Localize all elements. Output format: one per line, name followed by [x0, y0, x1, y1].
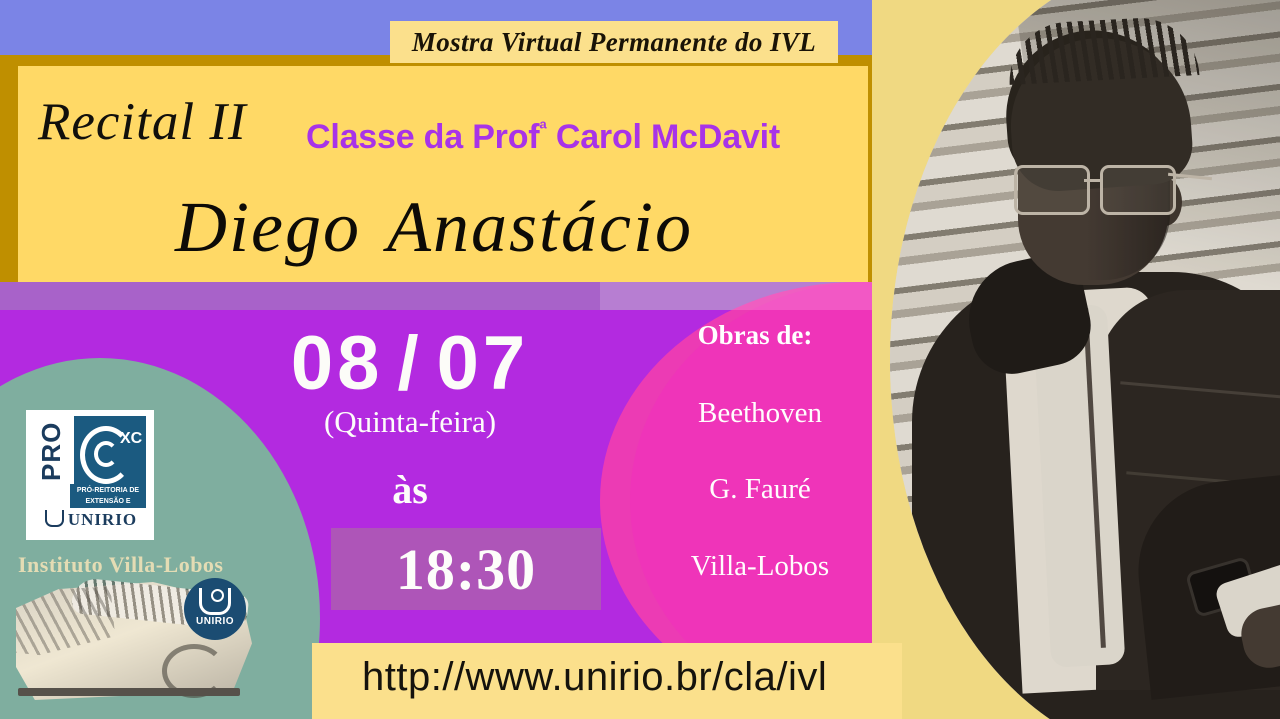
composer-item: G. Fauré: [635, 473, 885, 506]
composer-item: Villa-Lobos: [635, 550, 885, 583]
proexc-logo: PRO XC PRÓ-REITORIA DE EXTENSÃO E CULTUR…: [26, 410, 154, 540]
proexc-subtitle: PRÓ-REITORIA DE EXTENSÃO E CULTURA: [70, 484, 146, 508]
proexc-spiral-box: XC: [74, 416, 146, 486]
exhibition-banner-text: Mostra Virtual Permanente do IVL: [412, 27, 816, 58]
proexc-logo-mark: PRO XC: [30, 414, 150, 488]
class-line-suffix: Carol McDavit: [547, 118, 780, 156]
composer-item: Beethoven: [635, 397, 885, 430]
ivl-sculpture-base: [18, 688, 240, 696]
ivl-title: Instituto Villa-Lobos: [18, 552, 278, 578]
event-poster: Mostra Virtual Permanente do IVL Recital…: [0, 0, 1280, 719]
event-time-badge: 18:30: [331, 528, 601, 610]
website-url[interactable]: http://www.unirio.br/cla/ivl: [362, 655, 827, 700]
proexc-subtitle-line1: PRÓ-REITORIA DE: [70, 485, 146, 496]
proexc-institution-text: UNIRIO: [68, 510, 137, 529]
class-line-prefix: Classe da Prof: [306, 118, 539, 156]
event-date: 08/07: [225, 320, 595, 407]
performer-last-name: Anastácio: [387, 187, 693, 267]
date-separator: /: [383, 321, 436, 406]
program-heading: Obras de:: [630, 320, 880, 351]
unirio-symbol-dot: [211, 589, 224, 602]
website-panel[interactable]: http://www.unirio.br/cla/ivl: [312, 643, 902, 719]
event-day: 08: [291, 321, 384, 406]
unirio-badge: UNIRIO: [184, 578, 246, 640]
background-magenta-veil: [600, 282, 910, 310]
unirio-mark-icon: [45, 510, 64, 527]
exhibition-banner: Mostra Virtual Permanente do IVL: [390, 21, 838, 63]
ivl-logo: Instituto Villa-Lobos UNIRIO: [12, 552, 282, 702]
proexc-pro-text: PRO: [36, 416, 70, 486]
event-time-preposition: às: [225, 466, 595, 513]
recital-title: Recital II: [38, 92, 247, 152]
performer-photo: [872, 0, 1280, 719]
class-line-ordinal: ª: [539, 119, 546, 141]
performer-first-name: Diego: [175, 187, 361, 267]
performer-photo-clip: [890, 0, 1280, 719]
class-line: Classe da Profª Carol McDavit: [306, 118, 780, 157]
proexc-xc-text: XC: [120, 430, 142, 448]
unirio-badge-label: UNIRIO: [184, 616, 246, 627]
performer-name: DiegoAnastácio: [0, 186, 868, 269]
photo-sepia-overlay: [890, 0, 1280, 719]
event-weekday: (Quinta-feira): [225, 404, 595, 440]
proexc-institution: UNIRIO: [36, 510, 146, 532]
event-month: 07: [437, 321, 530, 406]
event-time: 18:30: [396, 536, 536, 603]
